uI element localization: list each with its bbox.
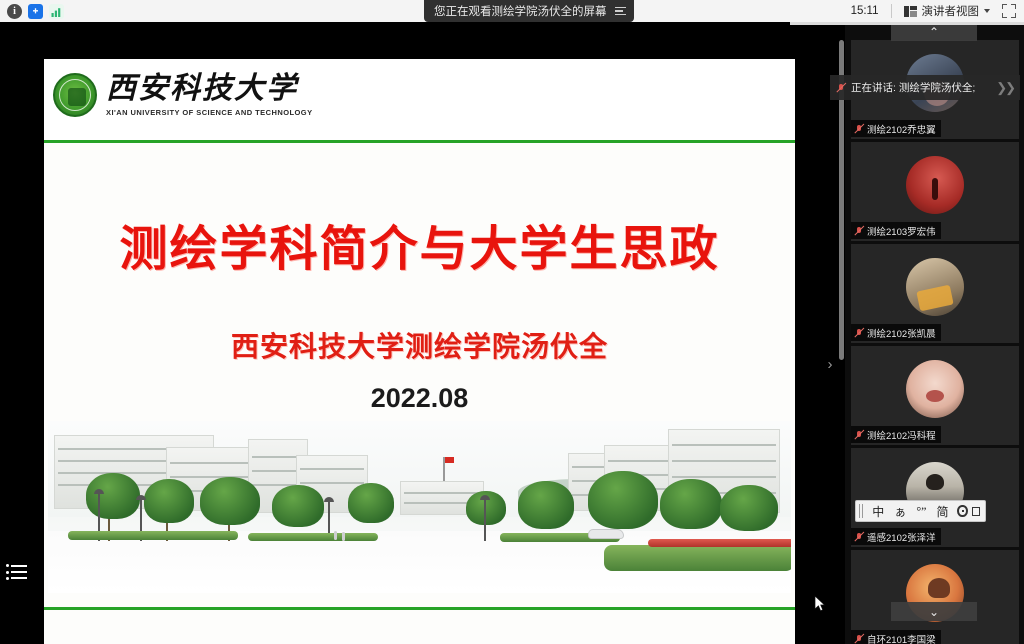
info-icon-glyph: i [13, 6, 16, 17]
photo-tree [200, 477, 260, 525]
mic-off-icon [854, 328, 864, 338]
slide-subtitle: 西安科技大学测绘学院汤伏全 [44, 325, 795, 365]
browser-top-bar: i 您正在观看测绘学院汤伏全的屏幕 15:11 演讲者视图 [0, 0, 1024, 22]
participant-name: 测绘2103罗宏伟 [867, 224, 936, 238]
university-logo: 西安科技大学 XI'AN UNIVERSITY OF SCIENCE AND T… [53, 73, 313, 117]
participant-tile[interactable]: 测绘2102张凯晨 [851, 244, 1019, 343]
photo-person [342, 532, 345, 541]
ime-toolbar[interactable]: 中 ぁ °” 简 [855, 500, 986, 522]
participant-name: 自环2101李国梁 [867, 632, 936, 644]
photo-person [334, 531, 337, 540]
participant-name-badge: 测绘2102冯科程 [851, 426, 941, 443]
topbar-icon-group: i [0, 4, 64, 19]
presentation-slide: 西安科技大学 XI'AN UNIVERSITY OF SCIENCE AND T… [44, 59, 795, 644]
restore-icon[interactable] [972, 507, 980, 516]
participant-name: 测绘2102张凯晨 [867, 326, 936, 340]
photo-hedge [604, 545, 791, 571]
participant-name: 测绘2102冯科程 [867, 428, 936, 442]
participant-name-badge: 测绘2102张凯晨 [851, 324, 941, 341]
photo-tree [86, 473, 140, 519]
ime-input-mode-button[interactable]: ぁ [889, 503, 911, 520]
mic-off-icon [836, 83, 846, 93]
photo-tree [660, 479, 722, 529]
participant-name: 遥感2102张泽洋 [867, 530, 936, 544]
avatar [906, 156, 964, 214]
photo-car [588, 529, 624, 539]
info-icon[interactable]: i [7, 4, 22, 19]
view-mode-dropdown[interactable]: 演讲者视图 [904, 3, 991, 19]
ime-script-button[interactable]: 简 [931, 503, 953, 520]
participant-name-badge: 测绘2103罗宏伟 [851, 222, 941, 239]
menu-icon[interactable] [615, 7, 626, 16]
photo-tree [144, 479, 194, 523]
photo-hedge [68, 531, 238, 540]
speaker-chevrons-icon: ❯❯ [996, 80, 1014, 96]
list-icon [11, 562, 27, 581]
screen-share-banner: 您正在观看测绘学院汤伏全的屏幕 [424, 0, 634, 22]
campus-photo [48, 421, 791, 593]
avatar [906, 360, 964, 418]
slide-title: 测绘学科简介与大学生思政 [44, 209, 795, 279]
university-name-en: XI'AN UNIVERSITY OF SCIENCE AND TECHNOLO… [106, 108, 313, 117]
topbar-underline [790, 22, 1024, 25]
shield-glyph [30, 5, 41, 17]
clock: 15:11 [851, 5, 879, 17]
scroll-down-button[interactable]: ⌄ [891, 602, 977, 621]
drag-handle-icon[interactable] [859, 504, 865, 518]
participant-name: 测绘2102乔忠翼 [867, 122, 936, 136]
active-speaker-banner: 正在讲话: 测绘学院汤伏全; ❯❯ [830, 75, 1020, 100]
chevron-down-icon [984, 9, 990, 13]
mouse-cursor [814, 595, 826, 613]
signal-glyph [51, 6, 63, 17]
photo-tree [588, 471, 658, 529]
gear-icon[interactable] [957, 505, 967, 517]
collapse-panel-chevron-right-icon[interactable]: › [824, 355, 836, 375]
shield-icon[interactable] [28, 4, 43, 19]
shared-screen-stage: 西安科技大学 XI'AN UNIVERSITY OF SCIENCE AND T… [0, 22, 845, 644]
participant-tile[interactable]: 测绘2103罗宏伟 [851, 142, 1019, 241]
university-name-block: 西安科技大学 XI'AN UNIVERSITY OF SCIENCE AND T… [106, 74, 313, 117]
active-speaker-label: 正在讲话: 测绘学院汤伏全; [851, 80, 975, 95]
footer-rule [44, 607, 795, 610]
photo-tree [272, 485, 324, 527]
photo-tree [518, 481, 574, 529]
university-name-cn: 西安科技大学 [106, 74, 313, 104]
mic-off-icon [854, 124, 864, 134]
photo-tree [720, 485, 778, 531]
mic-off-icon [854, 430, 864, 440]
divider [891, 4, 892, 18]
avatar [906, 258, 964, 316]
mic-off-icon [854, 226, 864, 236]
photo-flowerbed [648, 539, 791, 547]
fullscreen-toggle-icon[interactable] [1002, 4, 1016, 18]
participant-tile[interactable]: 自环2101李国梁 [851, 550, 1019, 644]
view-mode-label: 演讲者视图 [922, 3, 980, 19]
speaker-view-icon [904, 6, 917, 17]
participant-name-badge: 测绘2102乔忠翼 [851, 120, 941, 137]
participant-name-badge: 自环2101李国梁 [851, 630, 941, 644]
mic-off-icon [854, 634, 864, 644]
slide-date: 2022.08 [44, 383, 795, 414]
ime-punctuation-button[interactable]: °” [911, 504, 931, 519]
mic-off-icon [854, 532, 864, 542]
participant-tile[interactable]: 遥感2102张泽洋 [851, 448, 1019, 547]
university-emblem-icon [53, 73, 97, 117]
signal-icon[interactable] [49, 4, 64, 19]
slide-header: 西安科技大学 XI'AN UNIVERSITY OF SCIENCE AND T… [44, 59, 795, 141]
participant-tile[interactable]: 测绘2102冯科程 [851, 346, 1019, 445]
photo-hedge [248, 533, 378, 541]
screen-share-banner-label: 您正在观看测绘学院汤伏全的屏幕 [434, 3, 607, 19]
participant-name-badge: 遥感2102张泽洋 [851, 528, 941, 545]
header-rule [44, 140, 795, 143]
photo-lamp-post [484, 499, 486, 541]
ime-language-mode-button[interactable]: 中 [867, 503, 889, 520]
slide-list-toggle-button[interactable] [5, 560, 33, 584]
participant-panel: ⌃ 正在讲话: 测绘学院汤伏全; ❯❯ 测绘2102乔忠翼 测绘2103罗宏伟 … [845, 22, 1024, 644]
topbar-right-group: 15:11 演讲者视图 [851, 3, 1024, 19]
photo-tree [348, 483, 394, 523]
photo-flag [443, 457, 445, 481]
